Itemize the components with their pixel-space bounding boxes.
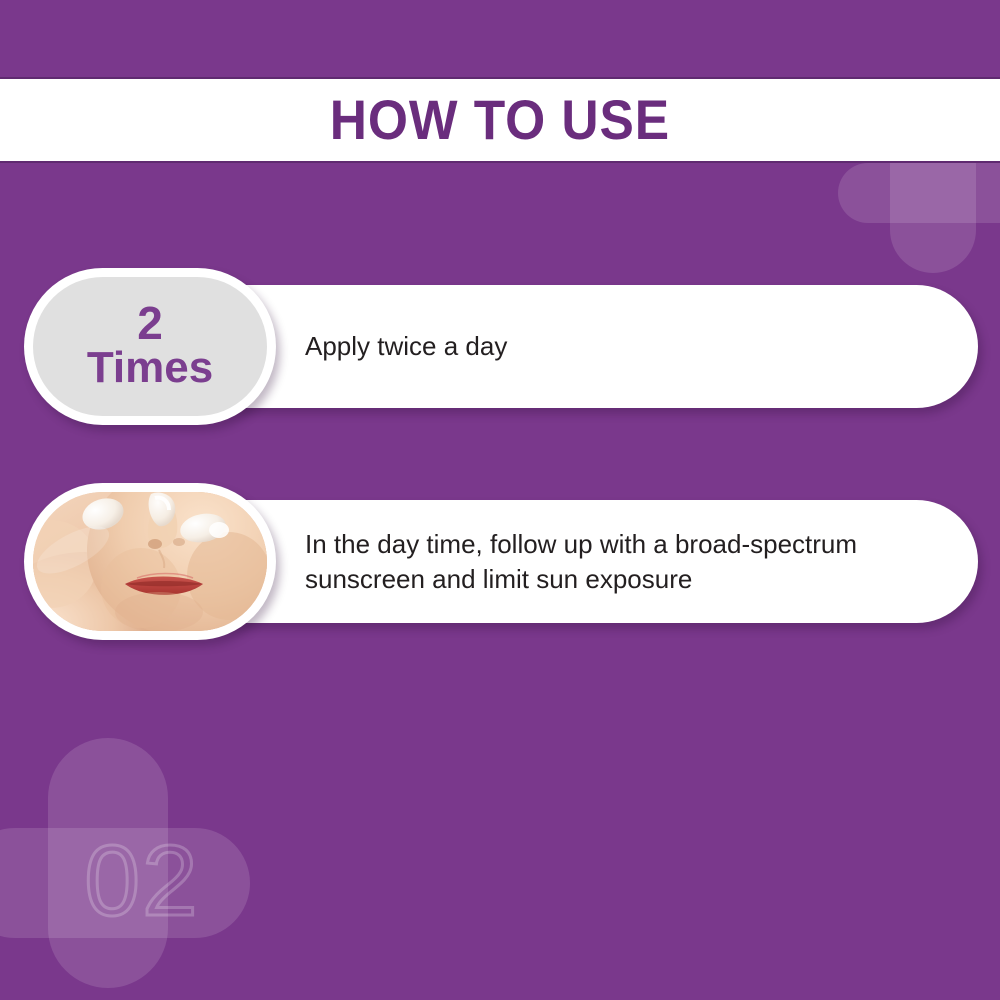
step-number-watermark: 02 <box>42 826 242 936</box>
header-banner: HOW TO USE <box>0 77 1000 163</box>
count-badge-number: 2 <box>137 302 163 346</box>
instruction-text: In the day time, follow up with a broad-… <box>305 527 938 596</box>
decorative-cross-bottom-left-horizontal-bar <box>0 828 250 938</box>
count-badge-label: Times <box>87 346 213 391</box>
count-badge-inner: 2 Times <box>33 277 267 416</box>
page-title: HOW TO USE <box>330 92 670 148</box>
how-to-use-poster: 02 HOW TO USE Apply twice a day 2 Times … <box>0 0 1000 1000</box>
count-badge: 2 Times <box>24 268 276 425</box>
skincare-photo <box>33 492 267 631</box>
skincare-photo-illustration <box>33 492 267 631</box>
decorative-cross-top-right-horizontal-bar <box>838 163 1000 223</box>
instruction-text: Apply twice a day <box>305 329 507 363</box>
instruction-row: Apply twice a day 2 Times <box>0 268 1000 428</box>
decorative-cross-top-right-vertical-bar <box>890 163 976 273</box>
top-purple-strip <box>0 0 1000 77</box>
instruction-row: In the day time, follow up with a broad-… <box>0 483 1000 643</box>
decorative-cross-bottom-left-vertical-bar <box>48 738 168 988</box>
photo-badge <box>24 483 276 640</box>
